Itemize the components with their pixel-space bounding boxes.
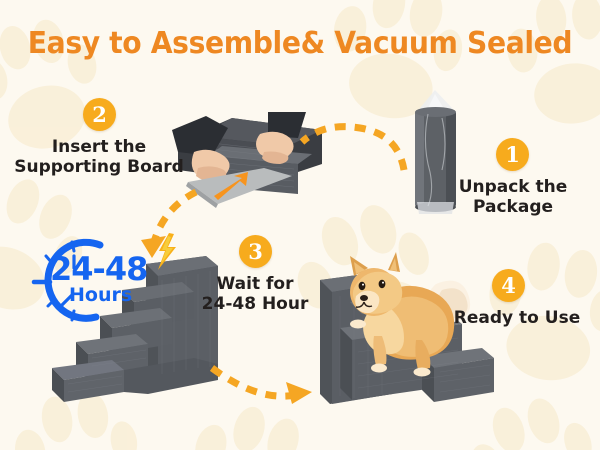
step-caption-2: Insert the Supporting Board [8,138,190,178]
infographic-poster: Easy to Assemble& Vacuum Sealed [0,0,600,450]
step-2-photo-insert-board [172,112,330,212]
clock-duration-badge: 24-48 Hours [16,238,170,322]
step-badge-3: 3 [239,235,272,268]
step-caption-3: Wait for 24-48 Hour [181,275,329,315]
step-badge-4: 4 [492,269,525,302]
step-badge-1: 1 [496,138,529,171]
clock-duration-unit: Hours [69,284,132,306]
step-caption-1: Unpack the Package [432,178,594,218]
paw-print-icon [499,0,600,130]
clock-duration-value: 24-48 [50,250,147,288]
page-title: Easy to Assemble& Vacuum Sealed [18,26,582,61]
step-badge-2: 2 [83,98,116,131]
step-caption-4: Ready to Use [437,309,597,329]
